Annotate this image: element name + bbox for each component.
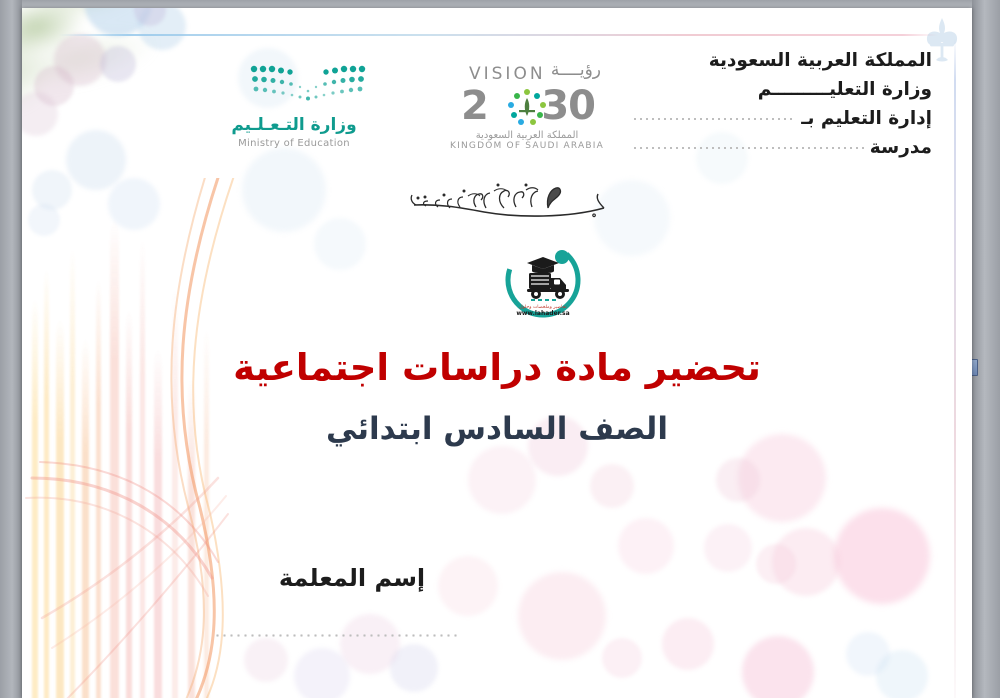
header-education-dept-fill[interactable]	[632, 111, 795, 126]
page-content: المملكة العربية السعودية وزارة التعليـــ…	[22, 8, 972, 698]
page-title-grade: الصف السادس ابتدائي	[22, 411, 972, 447]
page-title-subject: تحضير مادة دراسات اجتماعية	[22, 346, 972, 389]
viewer-left-edge	[0, 0, 22, 698]
lahader-truck-logo: تحاضير وملخصات وحلول www.lahader.sa	[491, 240, 595, 320]
ministry-logo-dot-pattern	[248, 64, 368, 106]
vision-word: VISION	[469, 64, 546, 84]
teacher-name-fill-line[interactable]	[214, 630, 460, 640]
vision-year-left: 2	[461, 84, 488, 128]
viewer-right-edge	[972, 0, 1000, 698]
lahader-logo-website: www.lahader.sa	[516, 310, 569, 317]
viewer-top-edge	[0, 0, 1000, 8]
header-kingdom-text: المملكة العربية السعودية	[709, 46, 932, 75]
header-school-text: مدرسة	[870, 133, 932, 162]
basmala-calligraphy	[398, 174, 618, 226]
document-page: المملكة العربية السعودية وزارة التعليـــ…	[22, 8, 972, 698]
vision-kingdom-arabic: المملكة العربية السعودية	[447, 130, 607, 141]
header-block: المملكة العربية السعودية وزارة التعليـــ…	[632, 46, 932, 162]
header-line-ministry: وزارة التعليـــــــــم	[632, 75, 932, 104]
ministry-logo-arabic: وزارة التـعـلـيم	[208, 115, 380, 135]
header-line-education-dept: إدارة التعليم بـ	[632, 104, 932, 133]
header-education-dept-text: إدارة التعليم بـ	[801, 104, 932, 133]
vision-2030-logo: VISION رؤيــــة 2	[447, 60, 607, 160]
ministry-of-education-logo: وزارة التـعـلـيم Ministry of Education	[200, 60, 380, 160]
vision-kingdom-english: KINGDOM OF SAUDI ARABIA	[447, 141, 607, 151]
teacher-name-label: إسم المعلمة	[237, 564, 467, 592]
header-line-kingdom: المملكة العربية السعودية	[632, 46, 932, 75]
vision-arabic-word: رؤيــــة	[551, 60, 601, 80]
header-school-fill[interactable]	[632, 140, 864, 155]
header-ministry-text: وزارة التعليـــــــــم	[758, 75, 932, 104]
header-line-school: مدرسة	[632, 133, 932, 162]
ministry-logo-english: Ministry of Education	[208, 138, 380, 149]
vision-year-right: 30	[541, 84, 595, 128]
document-viewer: المملكة العربية السعودية وزارة التعليـــ…	[0, 0, 1000, 698]
